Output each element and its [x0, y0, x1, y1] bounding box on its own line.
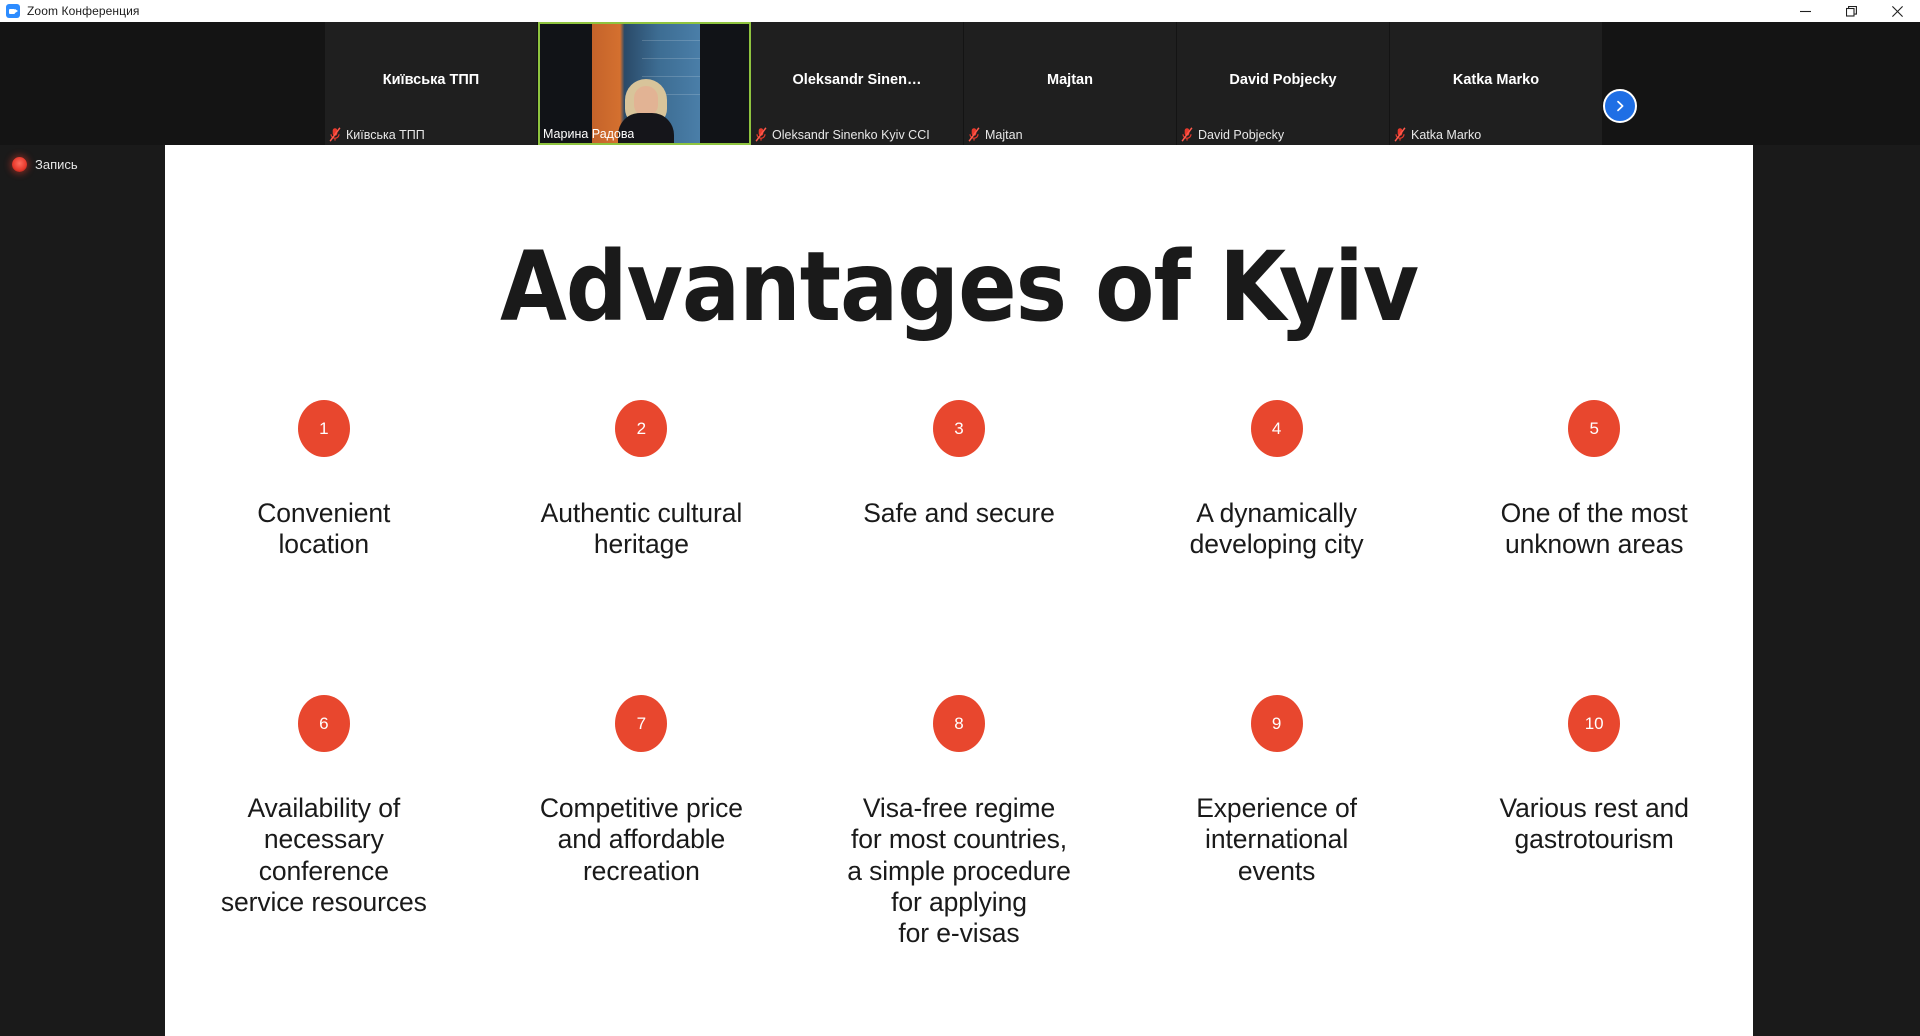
mic-muted-icon: [329, 127, 341, 142]
advantage-item: 9 Experience of international events: [1118, 695, 1436, 949]
advantage-caption: Visa-free regime for most countries, a s…: [847, 793, 1071, 949]
advantage-number-badge: 2: [615, 400, 667, 457]
advantage-caption: Various rest and gastrotourism: [1499, 793, 1688, 856]
participant-footer: Oleksandr Sinenko Kyiv CCI: [751, 127, 930, 142]
recording-dot-icon: [12, 157, 27, 172]
participant-display-name: David Pobjecky: [1177, 72, 1389, 88]
participant-display-name: Київська ТПП: [325, 72, 537, 88]
advantage-item: 5 One of the most unknown areas: [1435, 400, 1753, 561]
recording-label: Запись: [35, 157, 78, 172]
window-titlebar: Zoom Конференция: [0, 0, 1920, 22]
participant-footer-name: Київська ТПП: [346, 128, 425, 142]
advantage-number-badge: 5: [1568, 400, 1620, 457]
advantage-number-badge: 4: [1251, 400, 1303, 457]
advantage-item: 8 Visa-free regime for most countries, a…: [800, 695, 1118, 949]
participant-footer-name: Majtan: [985, 128, 1023, 142]
window-controls: [1782, 0, 1920, 22]
participant-footer: Katka Marko: [1390, 127, 1481, 142]
advantage-item: 6 Availability of necessary conference s…: [165, 695, 483, 949]
advantage-caption: One of the most unknown areas: [1501, 498, 1688, 561]
participant-display-name: Oleksandr Sinen…: [751, 72, 963, 88]
participant-display-name: Majtan: [964, 72, 1176, 88]
advantage-item: 4 A dynamically developing city: [1118, 400, 1436, 561]
mic-muted-icon: [1181, 127, 1193, 142]
participant-tile[interactable]: Oleksandr Sinen… Oleksandr Sinenko Kyiv …: [751, 22, 964, 145]
advantages-row-1: 1 Convenient location 2 Authentic cultur…: [165, 400, 1753, 561]
advantage-item: 2 Authentic cultural heritage: [483, 400, 801, 561]
advantage-number-badge: 1: [298, 400, 350, 457]
advantage-number-badge: 3: [933, 400, 985, 457]
participant-footer-name: Katka Marko: [1411, 128, 1481, 142]
window-title: Zoom Конференция: [27, 4, 140, 18]
participant-footer: Majtan: [964, 127, 1023, 142]
advantages-row-2: 6 Availability of necessary conference s…: [165, 695, 1753, 949]
participant-footer: Марина Радова: [540, 127, 634, 141]
advantage-item: 3 Safe and secure: [800, 400, 1118, 561]
participant-tile[interactable]: Київська ТПП Київська ТПП: [325, 22, 538, 145]
advantage-item: 10 Various rest and gastrotourism: [1435, 695, 1753, 949]
filmstrip-next-page-button[interactable]: [1603, 89, 1637, 123]
participant-footer: Київська ТПП: [325, 127, 425, 142]
participant-tile[interactable]: Katka Marko Katka Marko: [1390, 22, 1603, 145]
advantage-item: 7 Competitive price and affordable recre…: [483, 695, 801, 949]
advantage-number-badge: 9: [1251, 695, 1303, 752]
advantage-caption: A dynamically developing city: [1190, 498, 1364, 561]
participant-tile[interactable]: David Pobjecky David Pobjecky: [1177, 22, 1390, 145]
participant-tile[interactable]: Majtan Majtan: [964, 22, 1177, 145]
participant-tiles: Київська ТПП Київська ТПП: [325, 22, 1603, 145]
advantage-number-badge: 8: [933, 695, 985, 752]
advantage-number-badge: 10: [1568, 695, 1620, 752]
chevron-right-icon: [1612, 98, 1628, 114]
minimize-icon[interactable]: [1782, 0, 1828, 22]
participant-footer: David Pobjecky: [1177, 127, 1284, 142]
mic-muted-icon: [968, 127, 980, 142]
participant-footer-name: Oleksandr Sinenko Kyiv CCI: [772, 128, 930, 142]
advantage-caption: Experience of international events: [1196, 793, 1357, 887]
advantage-number-badge: 6: [298, 695, 350, 752]
zoom-camera-icon: [6, 4, 20, 18]
advantage-caption: Safe and secure: [863, 498, 1055, 529]
advantage-item: 1 Convenient location: [165, 400, 483, 561]
advantage-caption: Competitive price and affordable recreat…: [540, 793, 743, 887]
mic-muted-icon: [755, 127, 767, 142]
participants-filmstrip: Київська ТПП Київська ТПП: [0, 22, 1920, 145]
advantage-caption: Authentic cultural heritage: [541, 498, 742, 561]
maximize-icon[interactable]: [1828, 0, 1874, 22]
participant-footer-name: David Pobjecky: [1198, 128, 1284, 142]
mic-muted-icon: [1394, 127, 1406, 142]
recording-indicator[interactable]: Запись: [12, 157, 78, 172]
advantage-caption: Availability of necessary conference ser…: [221, 793, 427, 918]
slide-title: Advantages of Kyiv: [165, 239, 1753, 335]
participant-footer-name: Марина Радова: [543, 127, 634, 141]
advantage-caption: Convenient location: [257, 498, 390, 561]
participant-tile-active-speaker[interactable]: Марина Радова: [538, 22, 751, 145]
participant-video: [592, 24, 700, 143]
close-icon[interactable]: [1874, 0, 1920, 22]
shared-screen-slide: Advantages of Kyiv 1 Convenient location…: [165, 145, 1753, 1036]
advantage-number-badge: 7: [615, 695, 667, 752]
participant-display-name: Katka Marko: [1390, 72, 1602, 88]
